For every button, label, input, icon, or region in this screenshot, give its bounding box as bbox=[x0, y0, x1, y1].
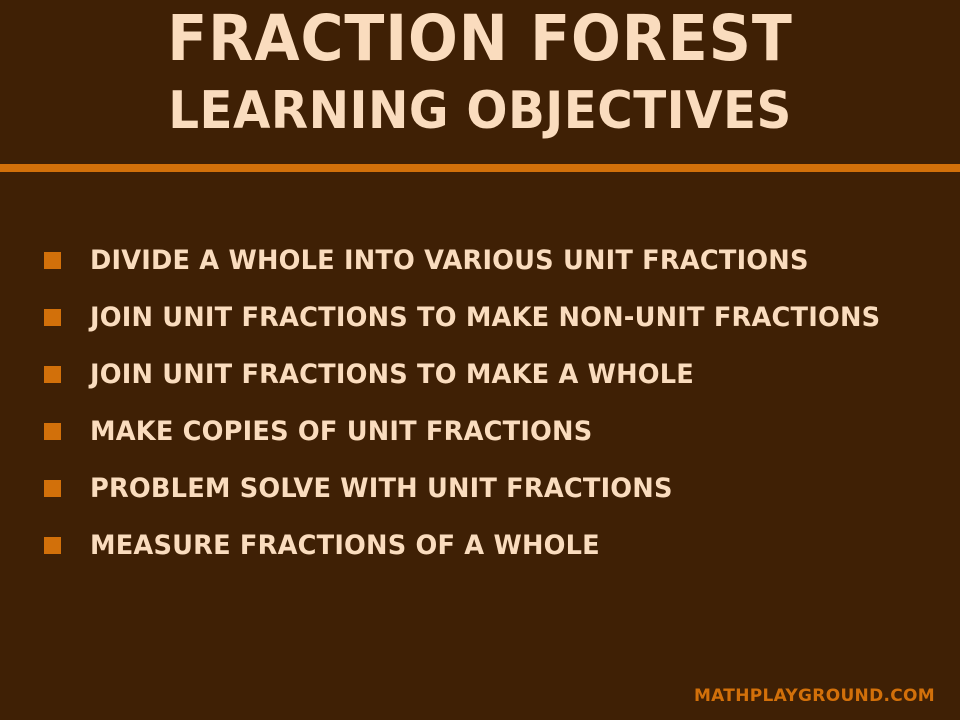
list-item: JOIN UNIT FRACTIONS TO MAKE A WHOLE bbox=[0, 346, 960, 403]
bullet-square-icon bbox=[44, 480, 61, 497]
page-subtitle: LEARNING OBJECTIVES bbox=[34, 82, 927, 140]
objective-label: MAKE COPIES OF UNIT FRACTIONS bbox=[90, 417, 592, 447]
list-item: MEASURE FRACTIONS OF A WHOLE bbox=[0, 517, 960, 574]
bullet-square-icon bbox=[44, 252, 61, 269]
bullet-square-icon bbox=[44, 366, 61, 383]
slide-root: FRACTION FOREST LEARNING OBJECTIVES DIVI… bbox=[0, 0, 960, 720]
slide-header: FRACTION FOREST LEARNING OBJECTIVES bbox=[0, 0, 960, 164]
footer-brand-label[interactable]: MATHPLAYGROUND.COM bbox=[694, 686, 935, 706]
bullet-square-icon bbox=[44, 537, 61, 554]
page-title: FRACTION FOREST bbox=[34, 4, 927, 74]
bullet-square-icon bbox=[44, 423, 61, 440]
list-item: DIVIDE A WHOLE INTO VARIOUS UNIT FRACTIO… bbox=[0, 232, 960, 289]
list-item: PROBLEM SOLVE WITH UNIT FRACTIONS bbox=[0, 460, 960, 517]
bullet-square-icon bbox=[44, 309, 61, 326]
objective-label: MEASURE FRACTIONS OF A WHOLE bbox=[90, 531, 600, 561]
objective-label: DIVIDE A WHOLE INTO VARIOUS UNIT FRACTIO… bbox=[90, 246, 809, 276]
list-item: JOIN UNIT FRACTIONS TO MAKE NON-UNIT FRA… bbox=[0, 289, 960, 346]
header-divider-rule bbox=[0, 164, 960, 172]
objective-label: JOIN UNIT FRACTIONS TO MAKE A WHOLE bbox=[90, 360, 694, 390]
list-item: MAKE COPIES OF UNIT FRACTIONS bbox=[0, 403, 960, 460]
objectives-list: DIVIDE A WHOLE INTO VARIOUS UNIT FRACTIO… bbox=[0, 232, 960, 574]
objective-label: JOIN UNIT FRACTIONS TO MAKE NON-UNIT FRA… bbox=[90, 303, 880, 333]
objective-label: PROBLEM SOLVE WITH UNIT FRACTIONS bbox=[90, 474, 673, 504]
